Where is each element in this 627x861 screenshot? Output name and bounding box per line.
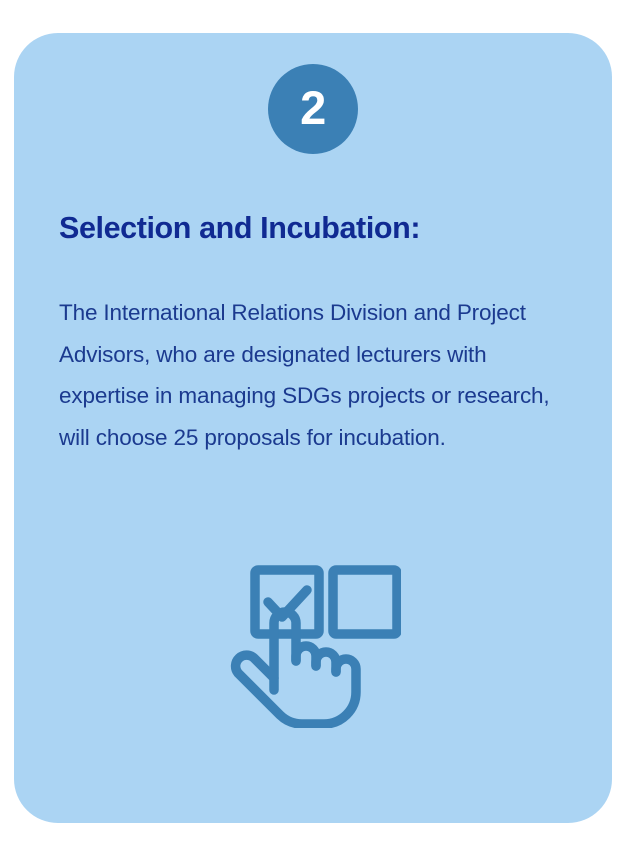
checkbox-empty-box <box>333 570 397 634</box>
card-heading: Selection and Incubation: <box>59 210 579 247</box>
hand-click-checkbox-icon <box>225 538 401 728</box>
step-badge-container: 2 <box>14 64 612 154</box>
step-number-label: 2 <box>300 84 326 131</box>
card-icon-container <box>14 538 612 728</box>
step-card: 2 Selection and Incubation: The Internat… <box>14 33 612 823</box>
card-body-text: The International Relations Division and… <box>59 292 574 458</box>
page-canvas: 2 Selection and Incubation: The Internat… <box>0 0 627 861</box>
step-number-badge: 2 <box>268 64 358 154</box>
